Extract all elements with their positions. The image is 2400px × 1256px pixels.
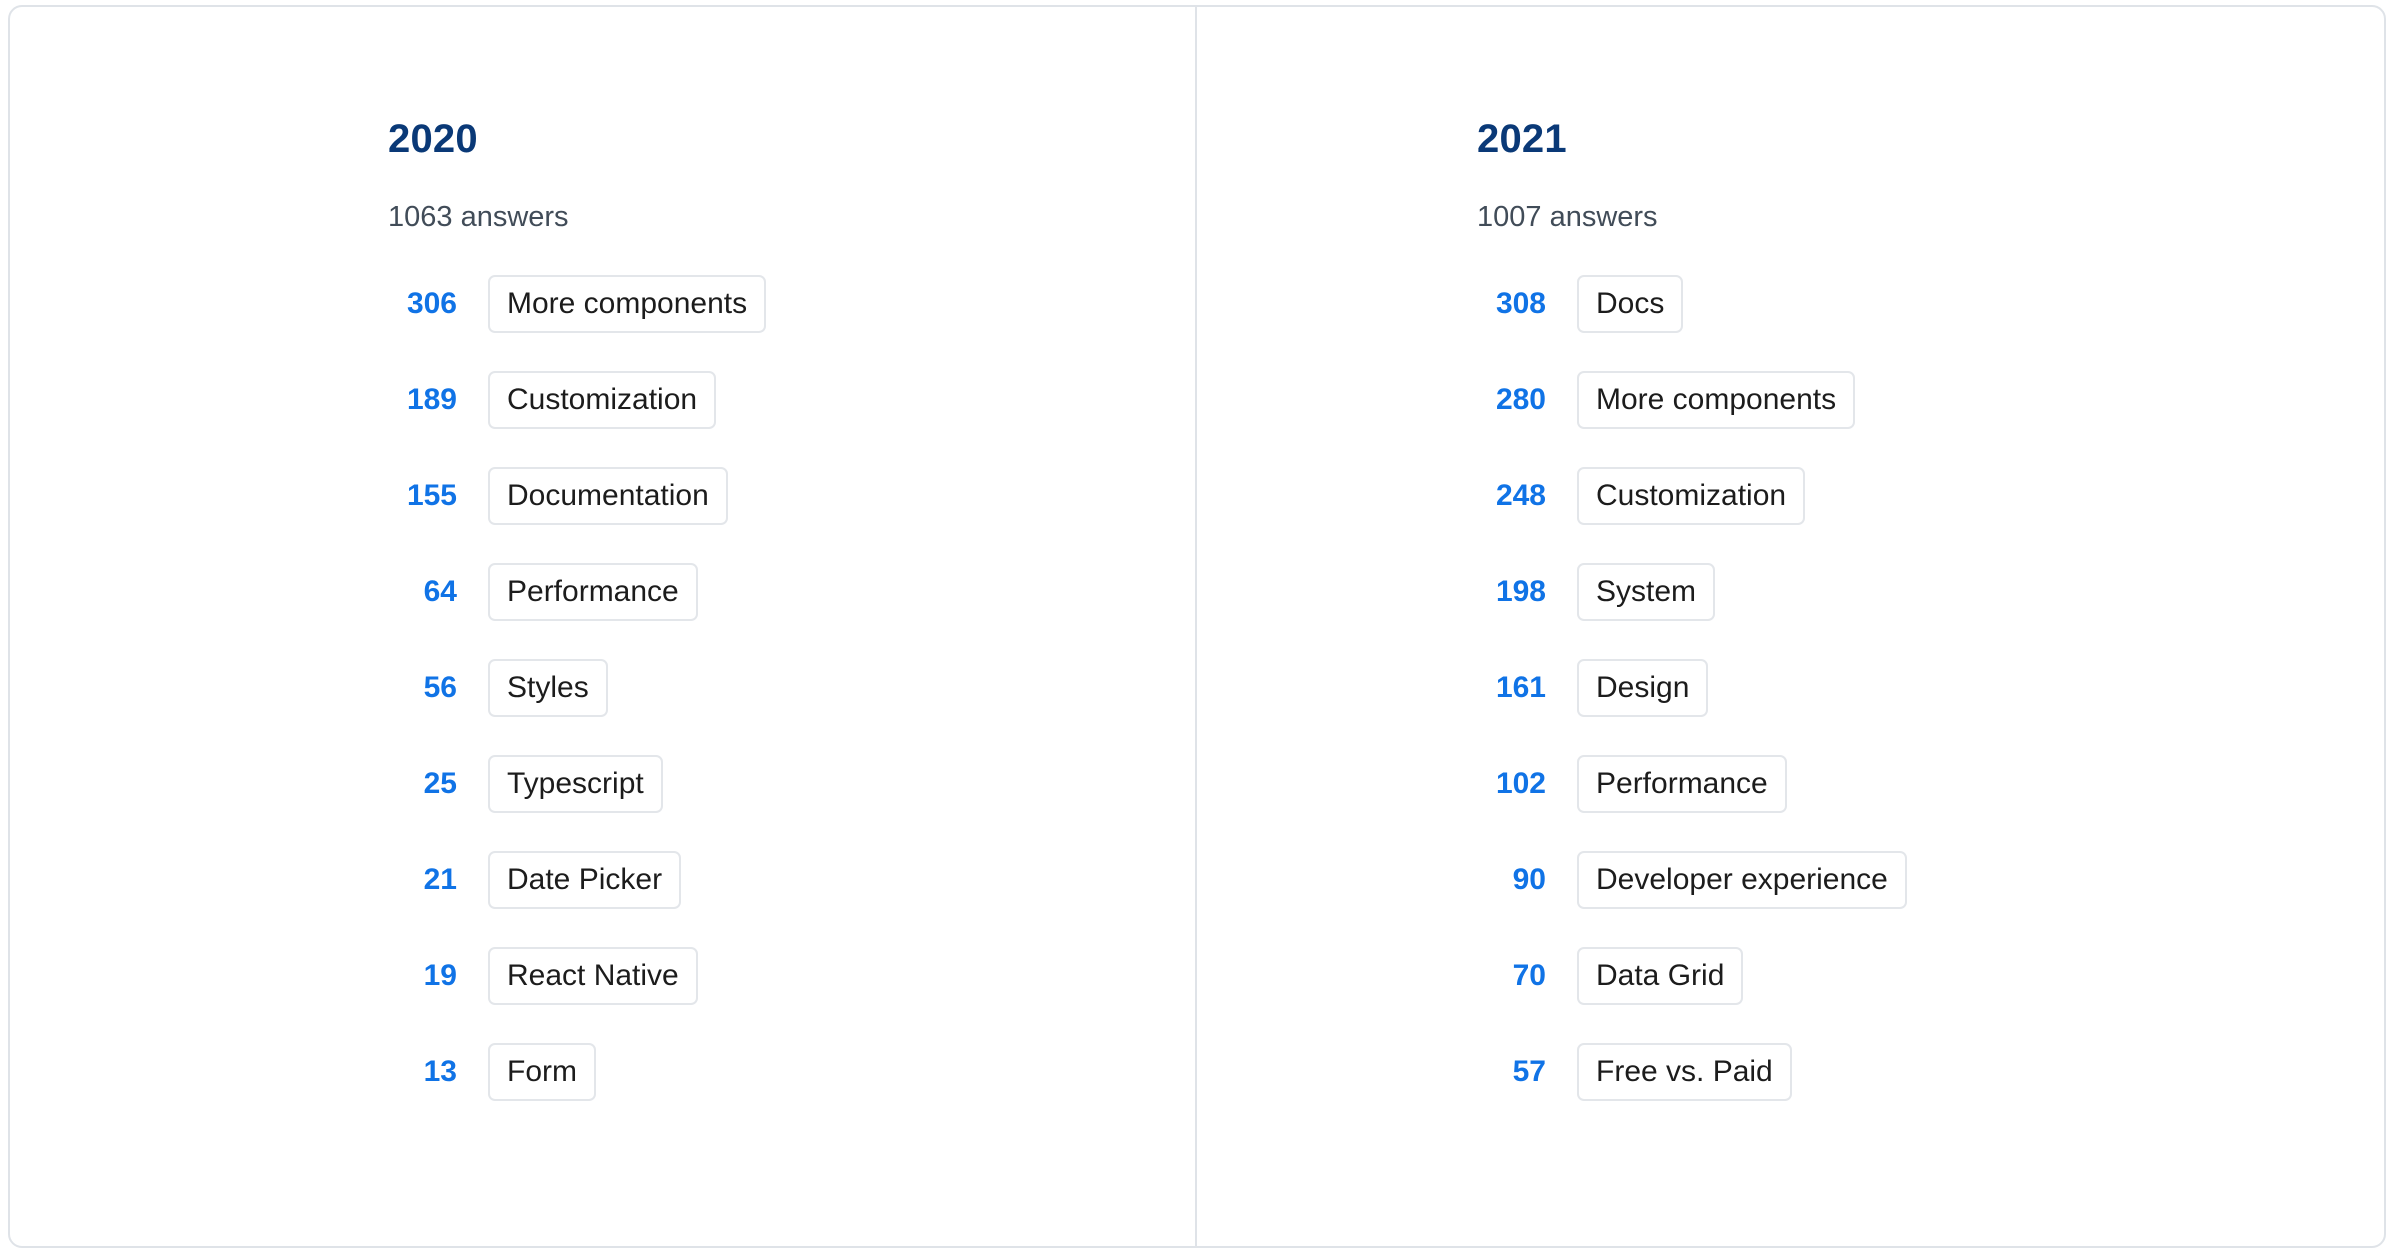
result-count: 19 [388, 947, 457, 1005]
page-title-2021: 2021 [1477, 119, 1567, 159]
list-item[interactable]: 25 Typescript [388, 755, 1195, 851]
list-item[interactable]: 306 More components [388, 275, 1195, 371]
result-label[interactable]: More components [1577, 371, 1855, 429]
result-count: 64 [388, 563, 457, 621]
result-count: 13 [388, 1043, 457, 1101]
result-label[interactable]: Design [1577, 659, 1708, 717]
result-count: 189 [388, 371, 457, 429]
result-label[interactable]: Typescript [488, 755, 663, 813]
result-label[interactable]: Styles [488, 659, 608, 717]
result-count: 56 [388, 659, 457, 717]
result-count: 248 [1477, 467, 1546, 525]
results-list-2021: 308 Docs 280 More components 248 Customi… [1477, 275, 2384, 1139]
result-label[interactable]: Documentation [488, 467, 728, 525]
result-label[interactable]: System [1577, 563, 1715, 621]
list-item[interactable]: 90 Developer experience [1477, 851, 2384, 947]
result-label[interactable]: Customization [488, 371, 716, 429]
result-label[interactable]: Form [488, 1043, 596, 1101]
list-item[interactable]: 155 Documentation [388, 467, 1195, 563]
result-count: 308 [1477, 275, 1546, 333]
result-label[interactable]: Docs [1577, 275, 1683, 333]
list-item[interactable]: 19 React Native [388, 947, 1195, 1043]
results-list-2020: 306 More components 189 Customization 15… [388, 275, 1195, 1139]
result-label[interactable]: Customization [1577, 467, 1805, 525]
result-count: 161 [1477, 659, 1546, 717]
result-count: 280 [1477, 371, 1546, 429]
list-item[interactable]: 70 Data Grid [1477, 947, 2384, 1043]
list-item[interactable]: 57 Free vs. Paid [1477, 1043, 2384, 1139]
result-count: 198 [1477, 563, 1546, 621]
result-label[interactable]: More components [488, 275, 766, 333]
result-label[interactable]: Date Picker [488, 851, 681, 909]
list-item[interactable]: 198 System [1477, 563, 2384, 659]
list-item[interactable]: 248 Customization [1477, 467, 2384, 563]
result-label[interactable]: Performance [1577, 755, 1787, 813]
list-item[interactable]: 56 Styles [388, 659, 1195, 755]
year-panel-2021: 2021 1007 answers 308 Docs 280 More comp… [1197, 7, 2384, 1246]
result-count: 21 [388, 851, 457, 909]
result-label[interactable]: Free vs. Paid [1577, 1043, 1792, 1101]
result-label[interactable]: React Native [488, 947, 698, 1005]
answers-count-2020: 1063 answers [388, 203, 569, 232]
list-item[interactable]: 13 Form [388, 1043, 1195, 1139]
list-item[interactable]: 102 Performance [1477, 755, 2384, 851]
result-count: 306 [388, 275, 457, 333]
result-count: 57 [1477, 1043, 1546, 1101]
year-panel-2020: 2020 1063 answers 306 More components 18… [10, 7, 1197, 1246]
answers-count-2021: 1007 answers [1477, 203, 1658, 232]
result-count: 70 [1477, 947, 1546, 1005]
comparison-card: 2020 1063 answers 306 More components 18… [8, 5, 2386, 1248]
result-count: 90 [1477, 851, 1546, 909]
list-item[interactable]: 189 Customization [388, 371, 1195, 467]
result-count: 102 [1477, 755, 1546, 813]
list-item[interactable]: 161 Design [1477, 659, 2384, 755]
page-title-2020: 2020 [388, 119, 478, 159]
list-item[interactable]: 64 Performance [388, 563, 1195, 659]
list-item[interactable]: 21 Date Picker [388, 851, 1195, 947]
result-count: 25 [388, 755, 457, 813]
result-label[interactable]: Data Grid [1577, 947, 1743, 1005]
list-item[interactable]: 308 Docs [1477, 275, 2384, 371]
result-label[interactable]: Developer experience [1577, 851, 1907, 909]
result-count: 155 [388, 467, 457, 525]
result-label[interactable]: Performance [488, 563, 698, 621]
list-item[interactable]: 280 More components [1477, 371, 2384, 467]
